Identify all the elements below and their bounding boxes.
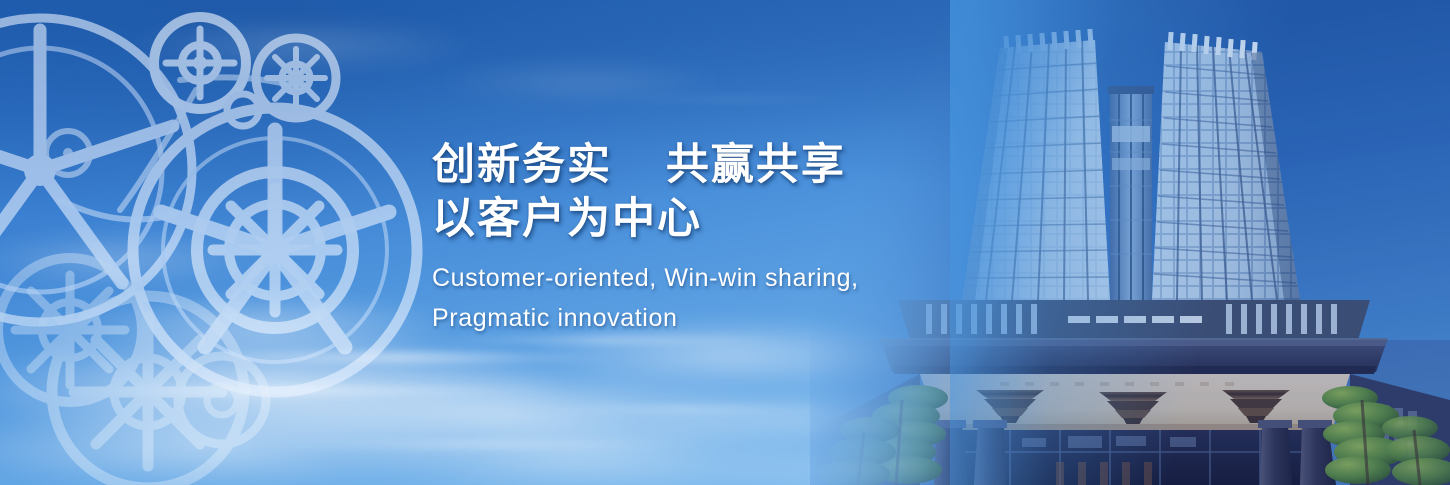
headline-phrase-1: 创新务实 [432,141,612,189]
subtitle-line-2: Pragmatic innovation [432,298,992,338]
subtitle-line-1: Customer-oriented, Win-win sharing, [432,258,992,298]
cloud-streak [520,406,850,413]
company-culture-banner: 创新务实 共赢共享 以客户为中心 Customer-oriented, Win-… [0,0,1450,485]
headline-phrase-2: 共赢共享 [666,141,846,189]
slogan-text-block: 创新务实 共赢共享 以客户为中心 Customer-oriented, Win-… [432,138,992,338]
subtitle-block: Customer-oriented, Win-win sharing, Prag… [432,258,992,338]
gears-watermark [0,0,470,485]
headline-line-1: 创新务实 共赢共享 [432,138,992,192]
headline-line-2: 以客户为中心 [432,192,992,246]
